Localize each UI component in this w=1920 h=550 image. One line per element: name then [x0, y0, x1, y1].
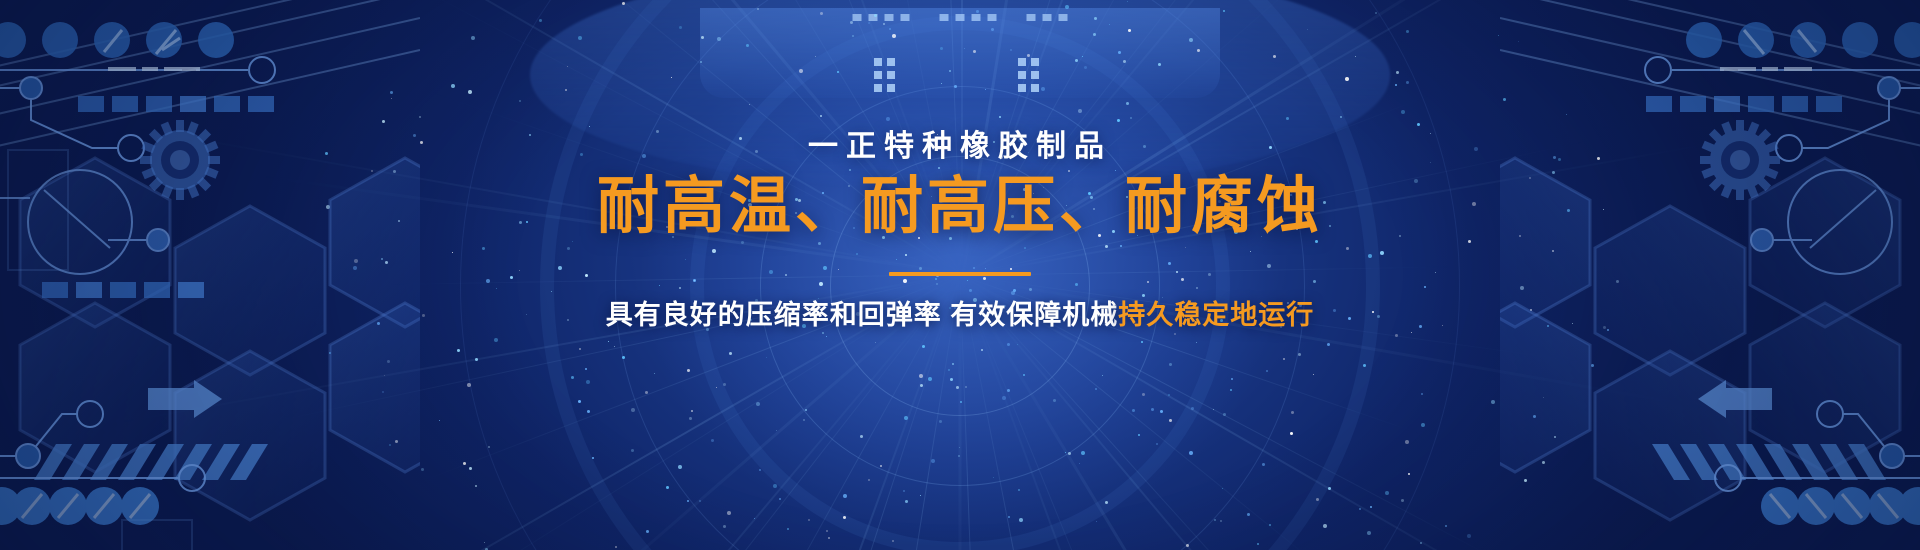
hero-text-block: 一正特种橡胶制品 耐高温、耐高压、耐腐蚀 具有良好的压缩率和回弹率 有效保障机械… — [0, 132, 1920, 329]
subtitle-white-part: 具有良好的压缩率和回弹率 有效保障机械 — [606, 300, 1119, 330]
rectangle-row-icon — [1646, 96, 1842, 112]
circle-row-icon — [1761, 487, 1920, 525]
top-arc-panel-inner-icon — [700, 8, 1220, 98]
brand-eyebrow: 一正特种橡胶制品 — [0, 132, 1920, 162]
striped-bar-icon — [34, 444, 268, 480]
hero-subtitle: 具有良好的压缩率和回弹率 有效保障机械持久稳定地运行 — [0, 302, 1920, 329]
hero-banner: 一正特种橡胶制品 耐高温、耐高压、耐腐蚀 具有良好的压缩率和回弹率 有效保障机械… — [0, 0, 1920, 550]
circle-row-icon — [0, 22, 234, 58]
circuit-line-icon — [1645, 57, 1920, 83]
title-divider — [889, 272, 1031, 276]
page-title: 耐高温、耐高压、耐腐蚀 — [0, 176, 1920, 238]
top-mini-dots-right-icon — [1018, 58, 1039, 92]
striped-bar-icon — [1652, 444, 1886, 480]
arrow-right-icon — [148, 380, 222, 418]
subtitle-highlight-part: 持久稳定地运行 — [1118, 300, 1314, 330]
circle-row-icon — [0, 487, 159, 525]
circle-row-icon — [1686, 22, 1920, 58]
circuit-line-icon — [0, 57, 275, 83]
top-dot-row-icon — [853, 14, 1068, 21]
rectangle-row-icon — [78, 96, 274, 112]
arrow-left-icon — [1698, 380, 1772, 418]
circuit-line-icon — [0, 401, 205, 491]
circuit-line-icon — [1715, 401, 1920, 491]
top-mini-dots-left-icon — [874, 58, 895, 92]
